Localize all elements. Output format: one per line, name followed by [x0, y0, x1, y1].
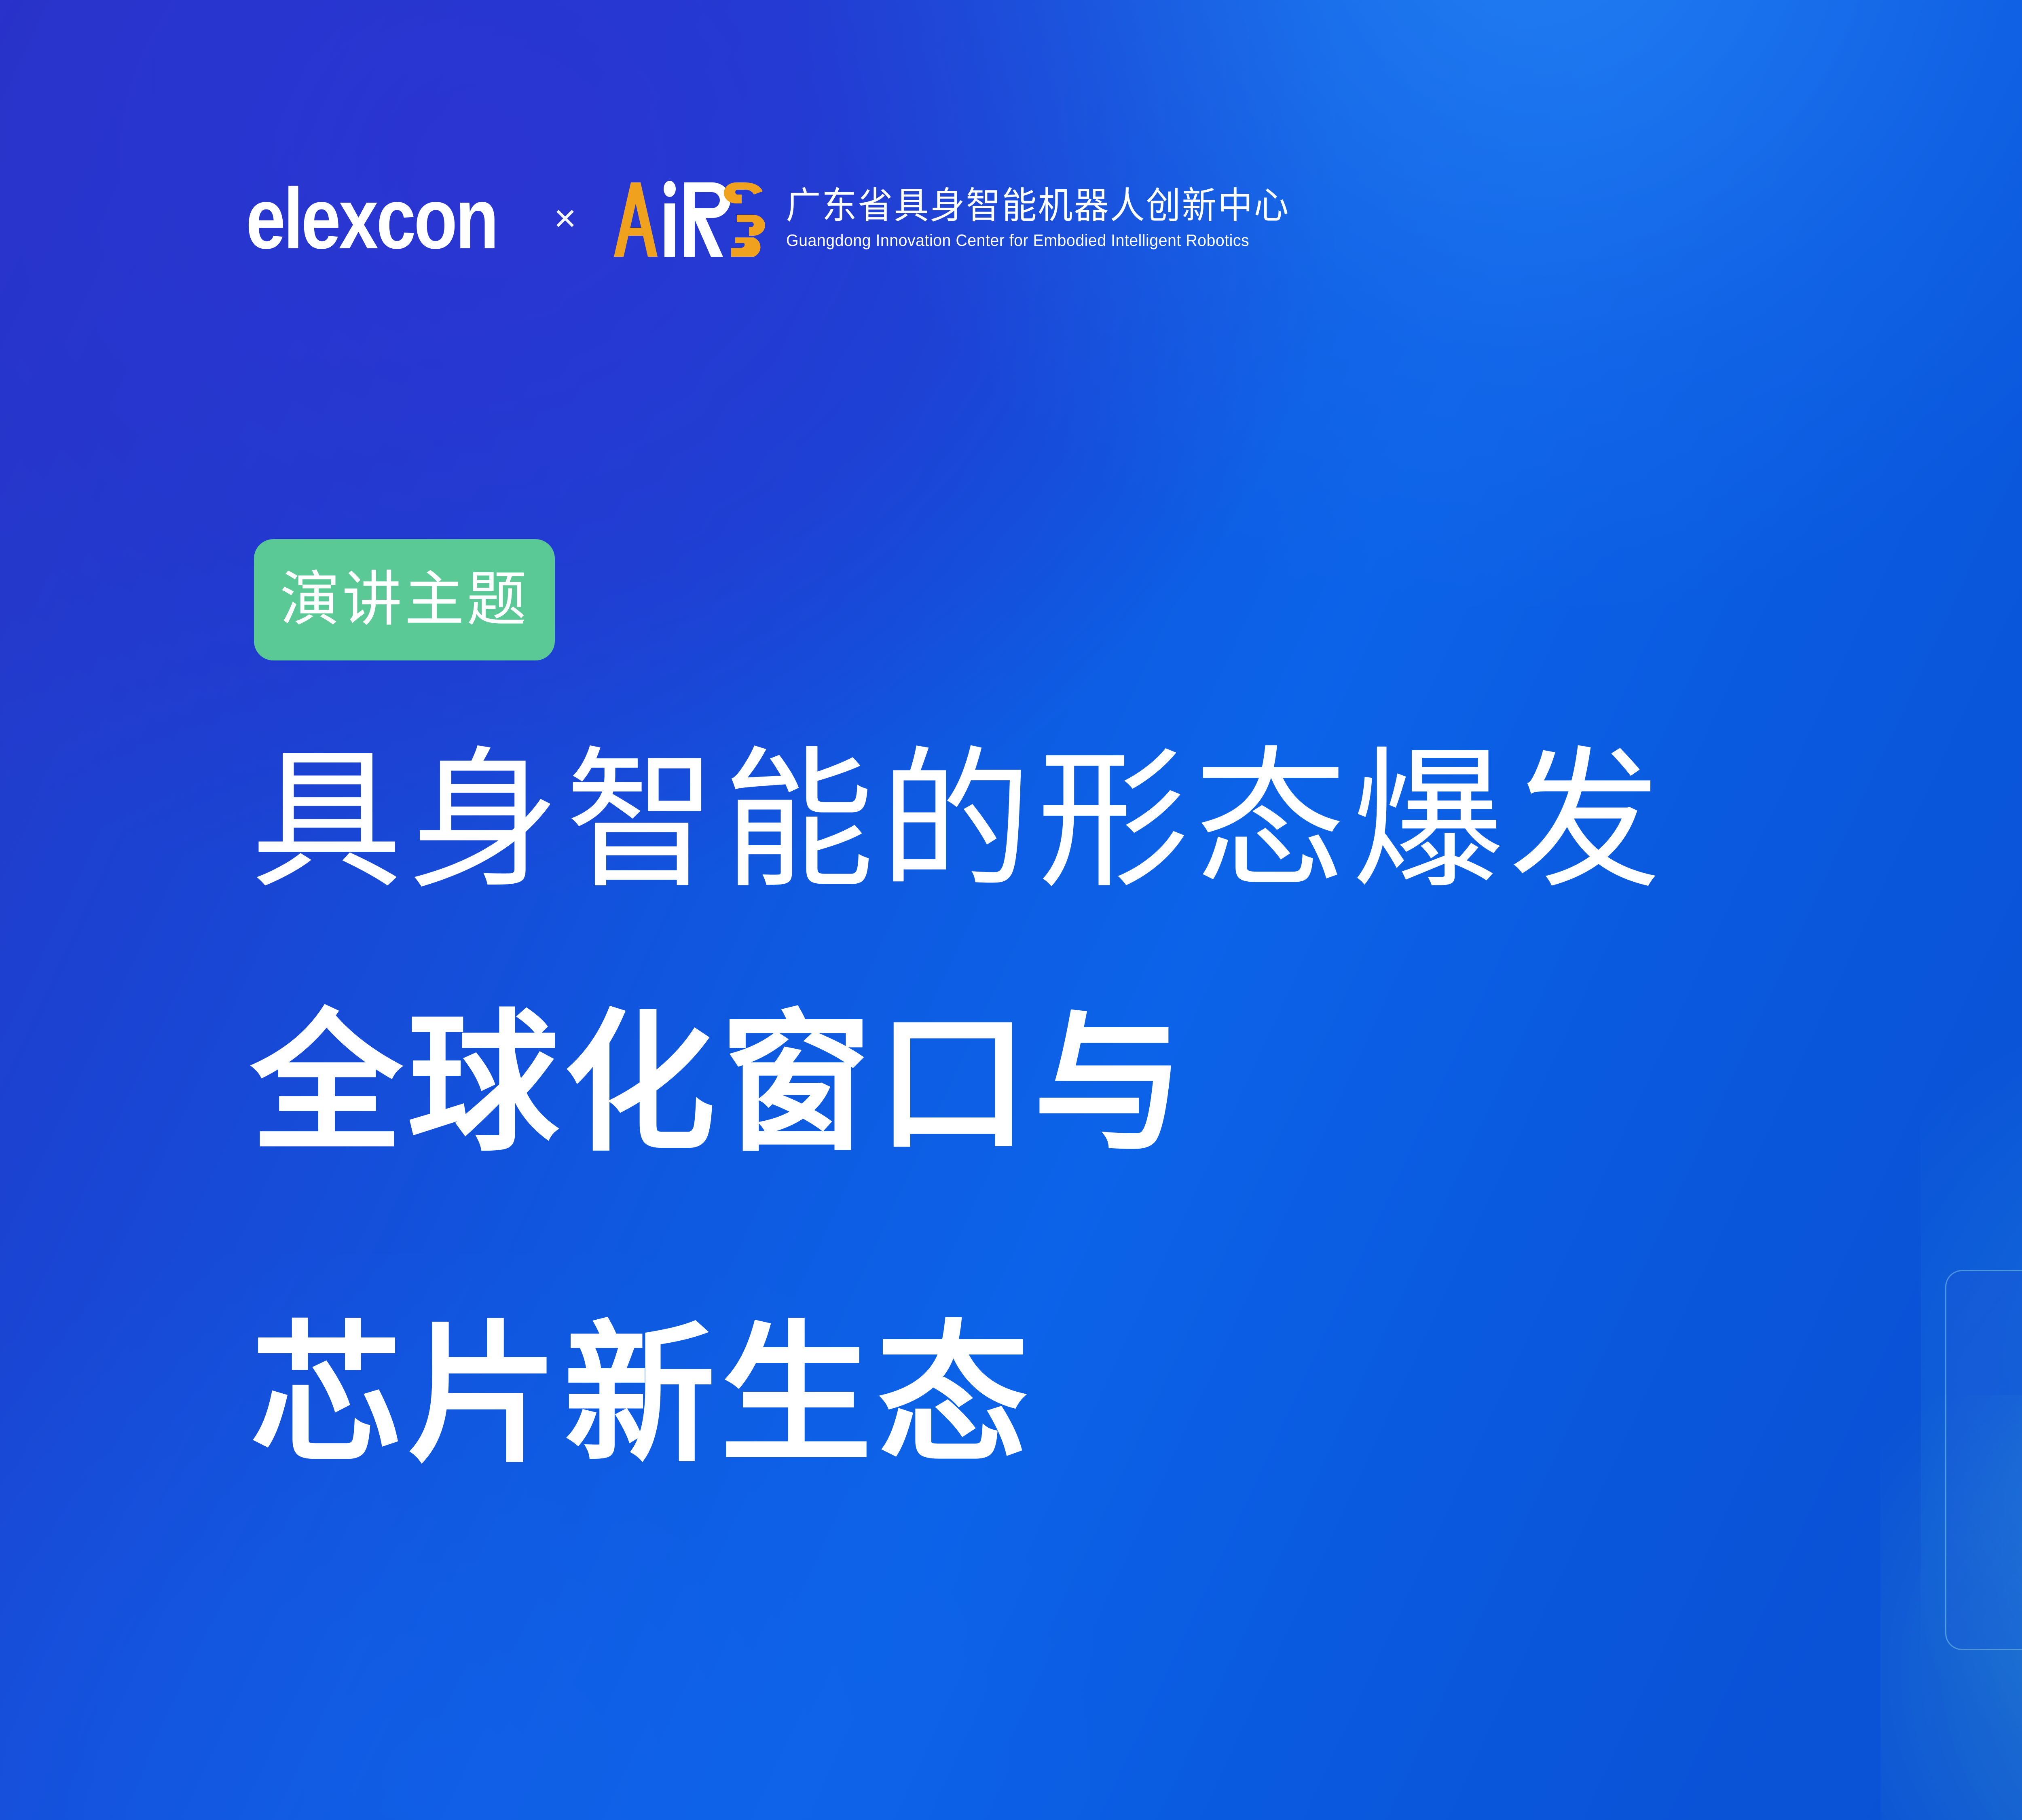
presentation-slide: elexcon × — [0, 0, 2022, 1820]
talk-title-line-1: 具身智能的形态爆发 — [251, 736, 1667, 906]
topic-badge: 演讲主题 — [254, 539, 555, 660]
airs-logo-mark — [602, 180, 772, 257]
talk-title-line-3: 芯片新生态 — [251, 1310, 1033, 1480]
talk-title-line-2: 全球化窗口与 — [251, 999, 1190, 1169]
topic-badge-label: 演讲主题 — [280, 570, 529, 630]
airs-logo-group: 广东省具身智能机器人创新中心 Guangdong Innovation Cent… — [602, 180, 1290, 257]
speaker-info-card: 刘少山 博士 深圳人工智能与机器人研究院(AIRS) 具身智能中心 主任 — [1945, 1270, 2022, 1650]
elexcon-logo: elexcon — [246, 175, 497, 261]
airs-name-english: Guangdong Innovation Center for Embodied… — [786, 231, 1270, 250]
background-glow-top-middle — [809, 0, 2022, 607]
header-logo-bar: elexcon × — [246, 174, 1290, 263]
airs-name-chinese: 广东省具身智能机器人创新中心 — [786, 186, 1290, 226]
collaboration-cross-icon: × — [554, 199, 576, 238]
airs-logo-text: 广东省具身智能机器人创新中心 Guangdong Innovation Cent… — [786, 187, 1290, 250]
